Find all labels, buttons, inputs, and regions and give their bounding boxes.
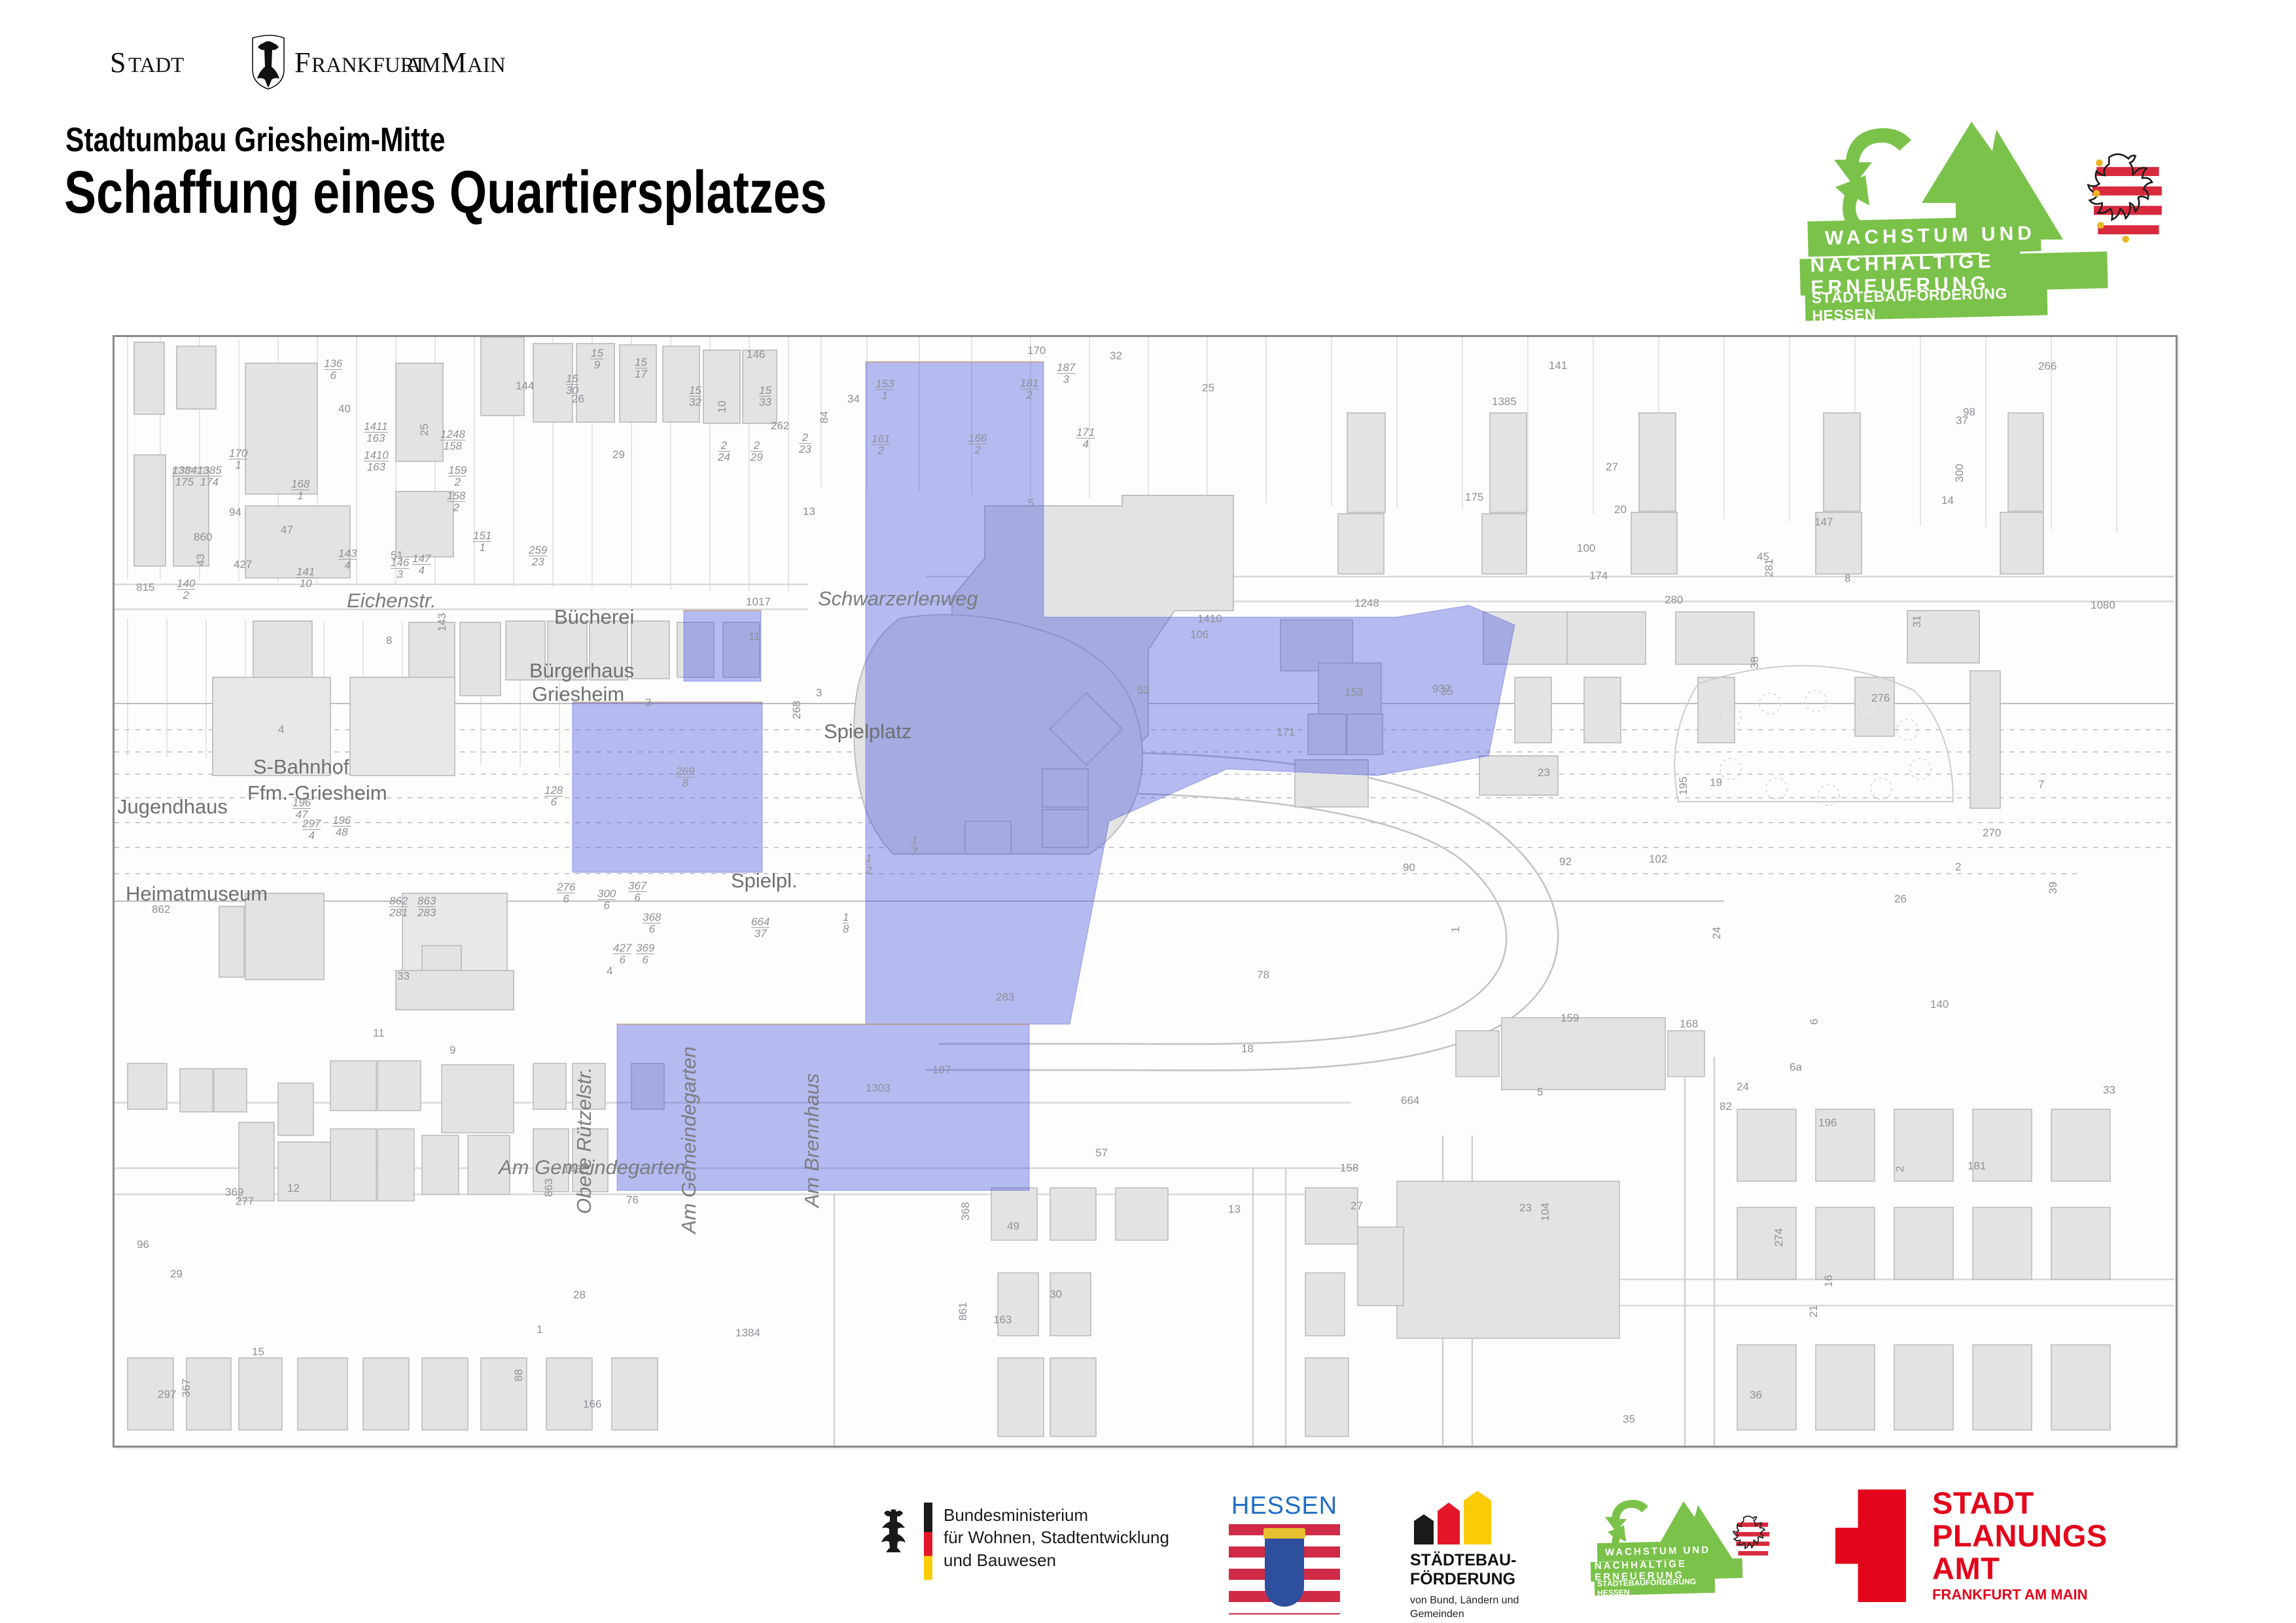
wachstum-logo-footer: WACHSTUM UND NACHHALTIGE ERNEUERUNG STÄD… xyxy=(1600,1496,1790,1601)
wachstum-und-nachhaltige-erneuerung-logo: WACHSTUM UND NACHHALTIGE ERNEUERUNG STÄD… xyxy=(1800,115,2219,318)
staedtebau-line1: STÄDTEBAU- xyxy=(1410,1551,1547,1570)
hessen-shield xyxy=(1265,1533,1304,1607)
hessen-logo: HESSEN xyxy=(1229,1492,1340,1610)
wachstum-footer-line3: STÄDTEBAUFÖRDERUNG HESSEN xyxy=(1595,1578,1715,1596)
cadastral-map[interactable]: Eichenstr. Schwarzerlenweg Am Gemeindega… xyxy=(113,335,2178,1448)
hessen-title: HESSEN xyxy=(1229,1492,1340,1520)
spa-line1: STADT xyxy=(1932,1487,2108,1520)
svg-text:F: F xyxy=(294,46,310,79)
svg-text:AIN: AIN xyxy=(467,54,506,77)
staedtebau-line2: FÖRDERUNG xyxy=(1410,1570,1547,1589)
staedtebau-subtext: von Bund, Ländern und Gemeinden xyxy=(1410,1594,1547,1622)
bmwsb-line2: für Wohnen, Stadtentwicklung xyxy=(944,1526,1169,1548)
poster-page: S TADT F RANKFURT AM M AIN Stadtumbau Gr… xyxy=(0,0,2296,1623)
svg-text:TADT: TADT xyxy=(128,54,184,77)
bmwsb-logo: Bundesministerium für Wohnen, Stadtentwi… xyxy=(870,1499,1178,1584)
staedtebau-sub2: Gemeinden xyxy=(1410,1608,1547,1622)
hessen-crown-icon xyxy=(1263,1528,1305,1539)
bmwsb-text: Bundesministerium für Wohnen, Stadtentwi… xyxy=(944,1504,1169,1571)
staedtebaufoerderung-logo: STÄDTEBAU- FÖRDERUNG von Bund, Ländern u… xyxy=(1410,1491,1547,1615)
spa-line3: AMT xyxy=(1932,1552,2108,1585)
svg-text:S: S xyxy=(110,46,126,79)
poster-title: Schaffung eines Quartiersplatzes xyxy=(64,158,827,227)
spa-text: STADT PLANUNGS AMT xyxy=(1932,1487,2108,1584)
staedtebau-text: STÄDTEBAU- FÖRDERUNG xyxy=(1410,1551,1547,1589)
poster-subtitle: Stadtumbau Griesheim-Mitte xyxy=(65,120,445,160)
wachstum-band-line3: STÄDTEBAUFÖRDERUNG HESSEN xyxy=(1805,287,2048,321)
svg-text:M: M xyxy=(441,46,467,79)
staedtebau-sub1: von Bund, Ländern und xyxy=(1410,1594,1547,1608)
house-bars-icon xyxy=(1410,1491,1547,1544)
bmwsb-line1: Bundesministerium xyxy=(944,1504,1169,1526)
stadt-frankfurt-logo: S TADT F RANKFURT AM M AIN xyxy=(98,31,517,90)
stadtplanungsamt-logo: STADT PLANUNGS AMT FRANKFURT AM MAIN xyxy=(1835,1487,2176,1611)
spa-line2: PLANUNGS xyxy=(1932,1520,2108,1552)
hessen-flag xyxy=(1229,1524,1340,1614)
frankfurt-mark-icon xyxy=(1835,1489,1906,1602)
bmwsb-line3: und Bauwesen xyxy=(944,1549,1169,1571)
german-flag-bar xyxy=(924,1503,932,1580)
svg-text:AM: AM xyxy=(406,54,440,77)
spa-subtitle: FRANKFURT AM MAIN xyxy=(1932,1586,2087,1603)
